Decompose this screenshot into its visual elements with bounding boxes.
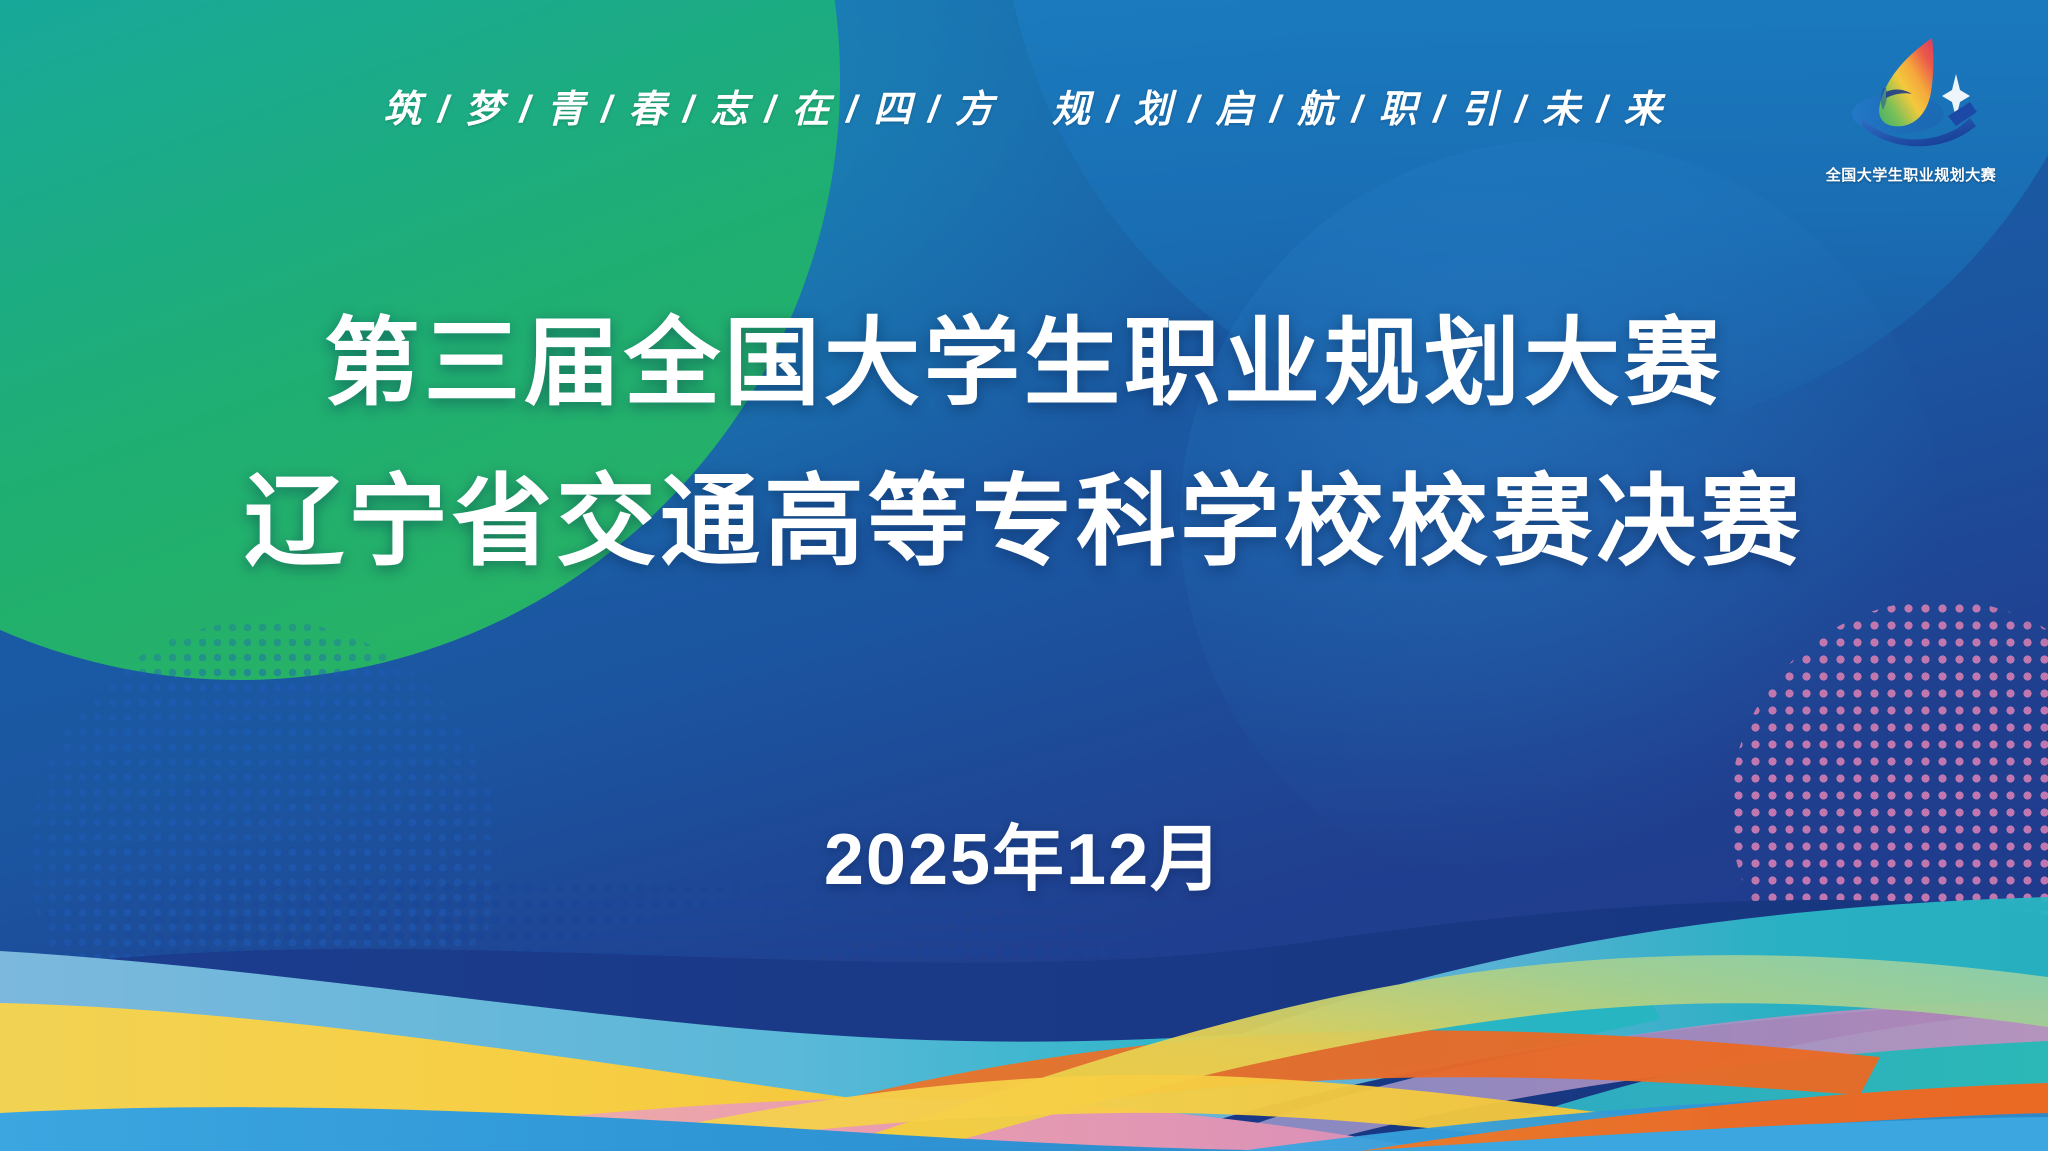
title-line-1: 第三届全国大学生职业规划大赛: [0, 300, 2048, 429]
event-date: 2025年12月: [0, 800, 2048, 905]
page-title: 第三届全国大学生职业规划大赛 辽宁省交通高等专科学校校赛决赛: [0, 300, 2048, 589]
tagline-row: 筑 / 梦 / 青 / 春 / 志 / 在 / 四 / 方 规 / 划 / 启 …: [0, 78, 2048, 133]
event-poster: 筑 / 梦 / 青 / 春 / 志 / 在 / 四 / 方 规 / 划 / 启 …: [0, 0, 2048, 1151]
tagline-right: 规 / 划 / 启 / 航 / 职 / 引 / 未 / 来: [1052, 78, 1665, 133]
logo-caption: 全国大学生职业规划大赛: [1826, 164, 1997, 185]
competition-logo: 全国大学生职业规划大赛: [1816, 22, 2006, 207]
sail-logo-icon: [1836, 22, 1986, 162]
title-line-2: 辽宁省交通高等专科学校校赛决赛: [0, 455, 2048, 589]
tagline-left: 筑 / 梦 / 青 / 春 / 志 / 在 / 四 / 方: [383, 78, 996, 133]
